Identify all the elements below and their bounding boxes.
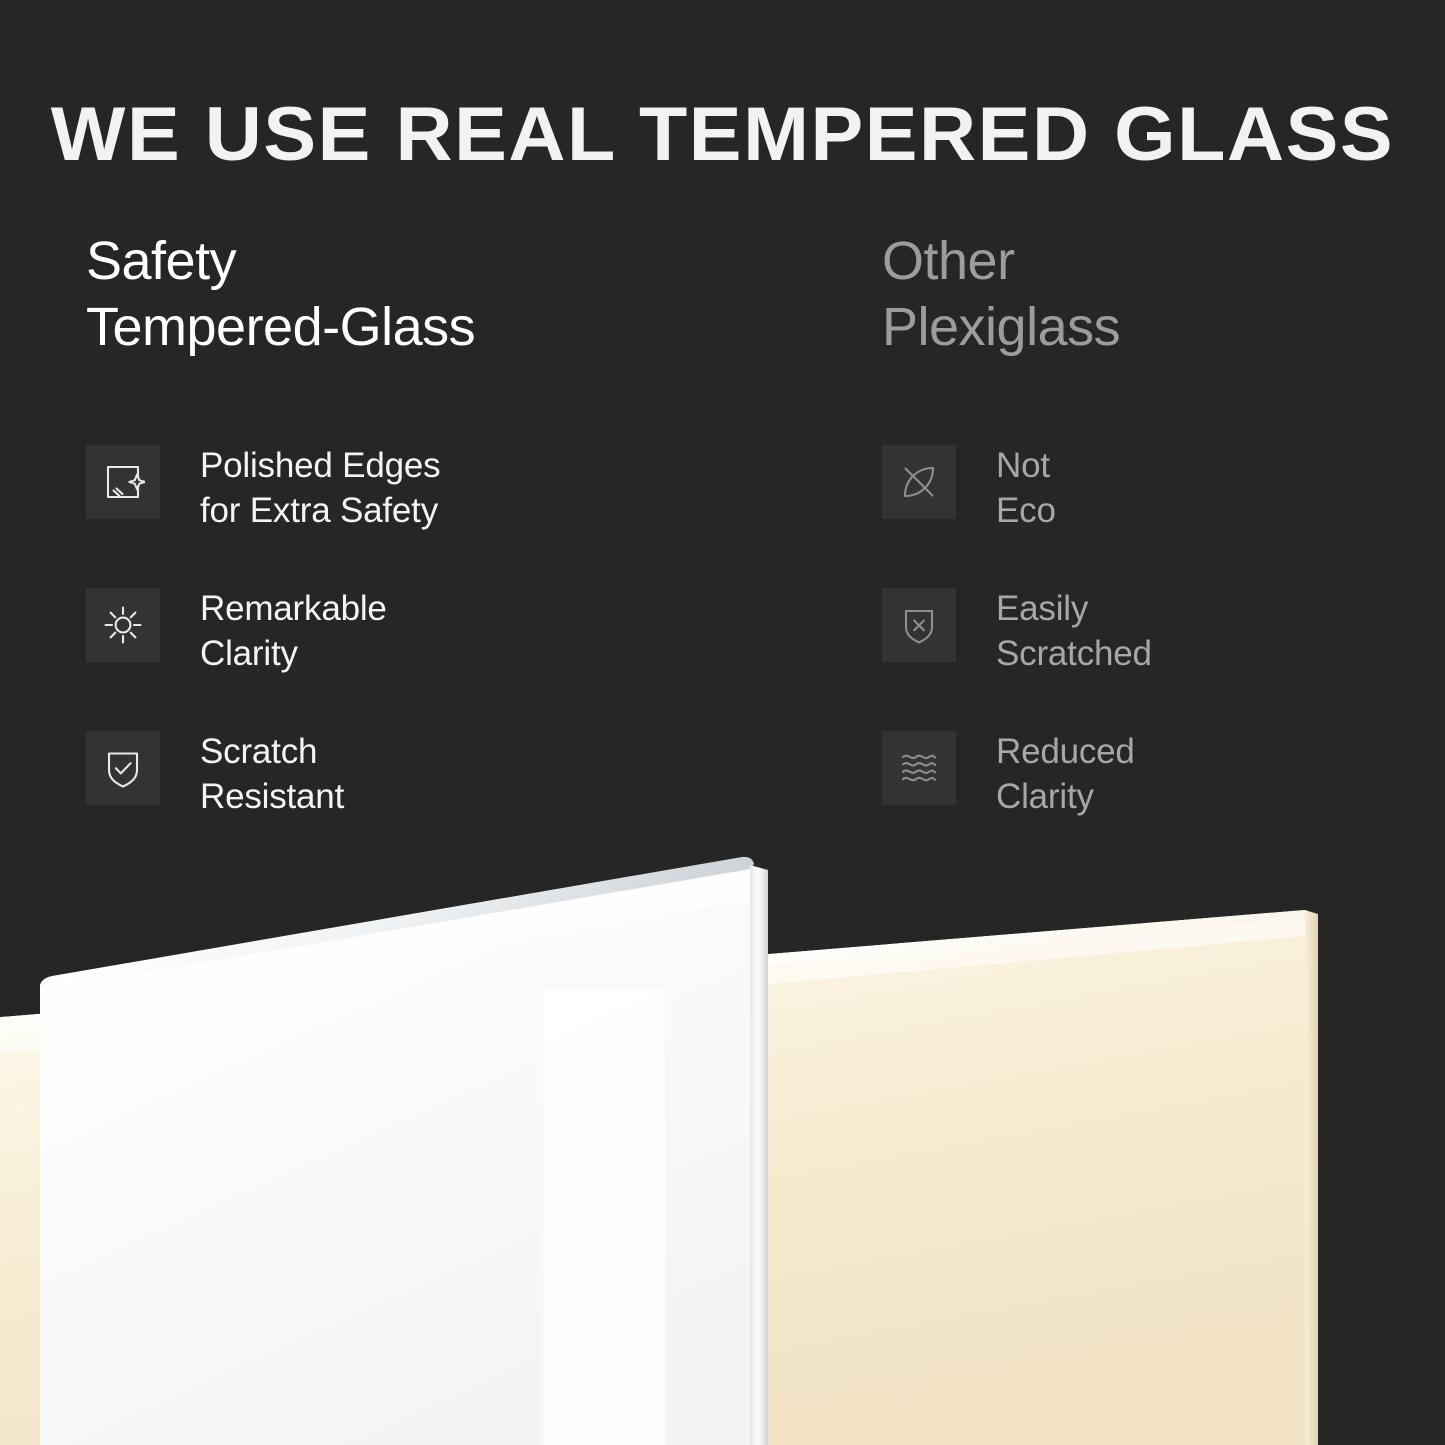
feature-label: Easily Scratched: [996, 584, 1152, 676]
polished-edge-sparkle-icon: [86, 445, 160, 519]
feature-remarkable-clarity: Remarkable Clarity: [86, 584, 686, 727]
feature-label: Polished Edges for Extra Safety: [200, 441, 440, 533]
page-title: WE USE REAL TEMPERED GLASS: [0, 89, 1445, 181]
feature-polished-edges: Polished Edges for Extra Safety: [86, 441, 686, 584]
column-other-plexiglass: Other Plexiglass Not Eco: [882, 228, 1445, 360]
feature-label: Scratch Resistant: [200, 727, 344, 819]
wavy-lines-icon: [882, 731, 956, 805]
sun-brightness-icon: [86, 588, 160, 662]
feature-easily-scratched: Easily Scratched: [882, 584, 1445, 727]
feature-label: Reduced Clarity: [996, 727, 1135, 819]
shield-check-icon: [86, 731, 160, 805]
product-photo: [0, 840, 1445, 1445]
feature-list-safety: Polished Edges for Extra Safety: [86, 441, 686, 870]
feature-label: Remarkable Clarity: [200, 584, 387, 676]
column-title-other-plexiglass: Other Plexiglass: [882, 228, 1445, 360]
comparison-infographic: WE USE REAL TEMPERED GLASS Safety Temper…: [0, 0, 1445, 1445]
tempered-glass-panel: [40, 857, 768, 1445]
feature-label: Not Eco: [996, 441, 1056, 533]
shield-x-icon: [882, 588, 956, 662]
comparison-columns: Safety Tempered-Glass: [0, 228, 1445, 828]
feature-not-eco: Not Eco: [882, 441, 1445, 584]
feature-list-plexiglass: Not Eco Easily Scratched: [882, 441, 1445, 870]
leaf-slash-icon: [882, 445, 956, 519]
column-title-safety-tempered-glass: Safety Tempered-Glass: [86, 228, 686, 360]
column-safety-tempered-glass: Safety Tempered-Glass: [86, 228, 686, 360]
